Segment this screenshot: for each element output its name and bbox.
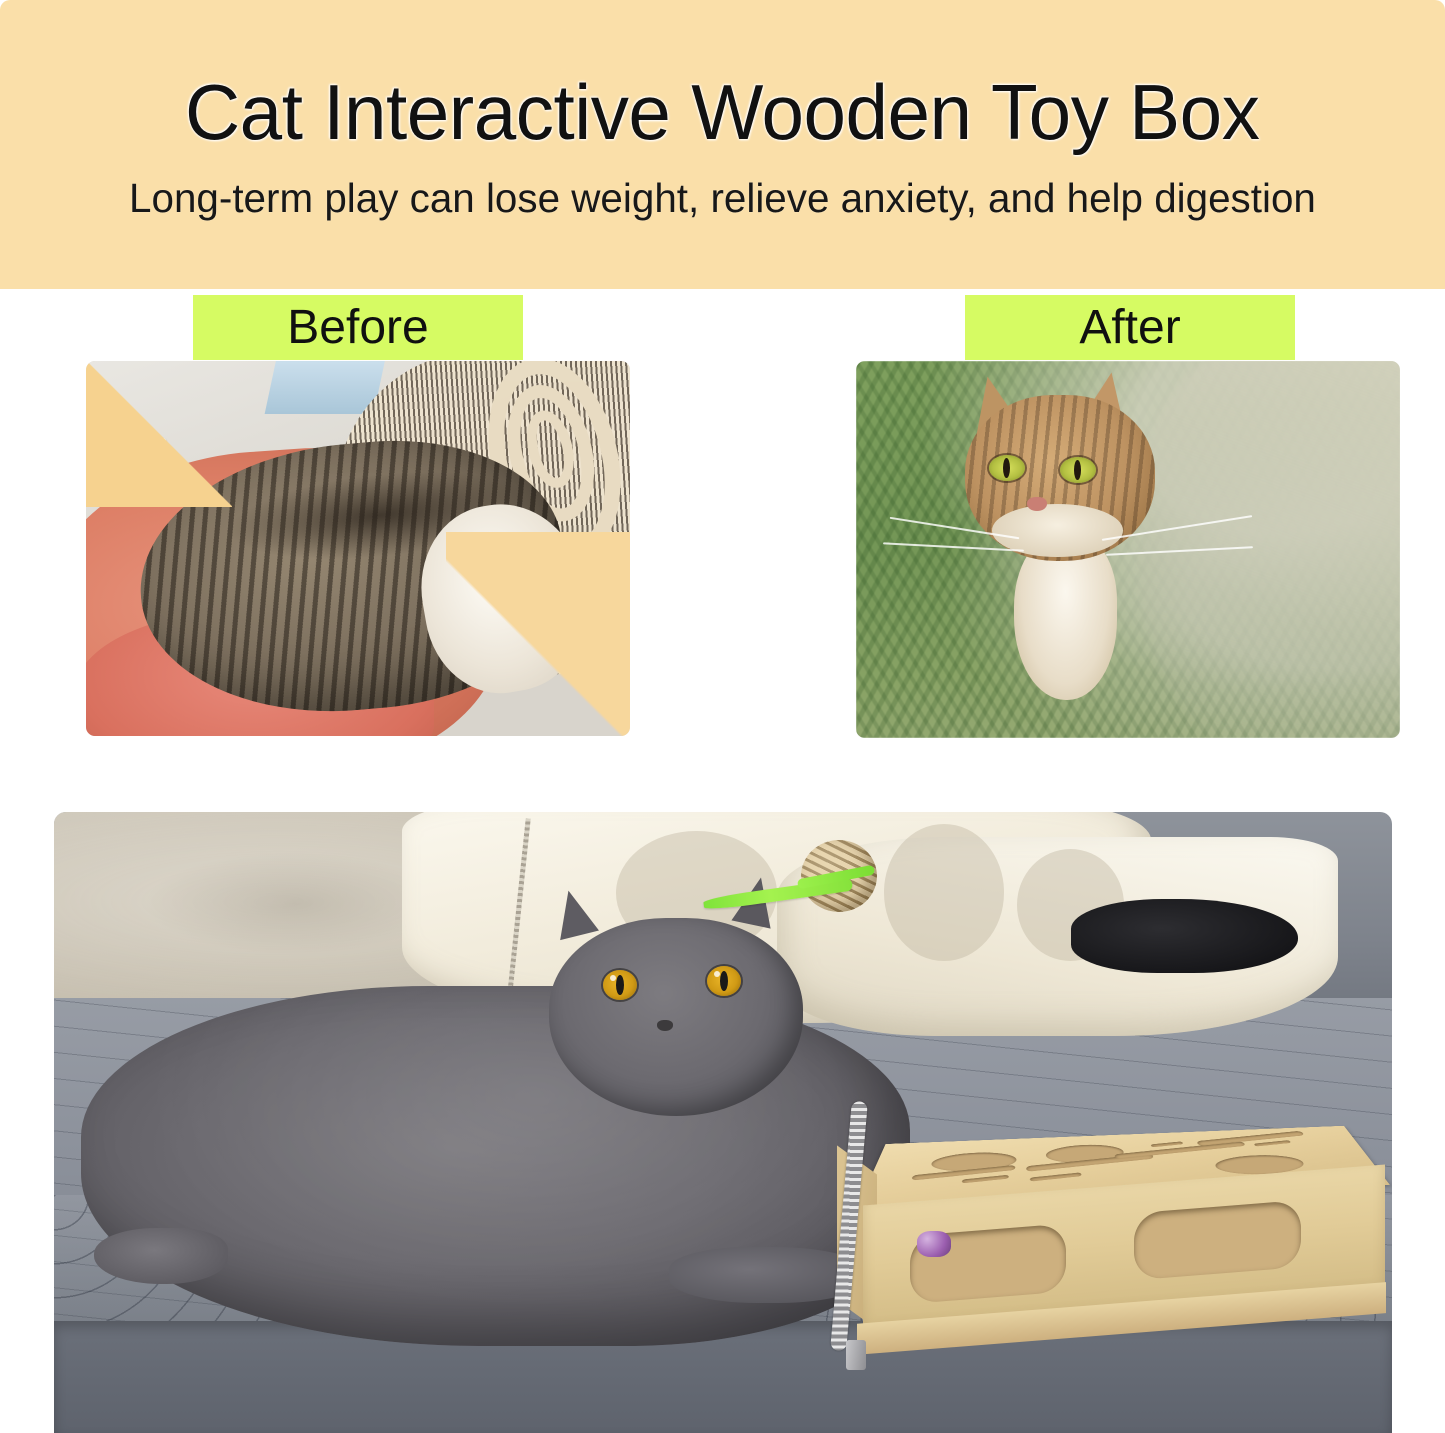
header-banner: Cat Interactive Wooden Toy Box Long-term… xyxy=(0,0,1445,289)
after-label-chip: After xyxy=(965,295,1295,360)
toy-box-slot xyxy=(1030,1173,1082,1182)
photo-corner-tint-top-left xyxy=(86,361,232,507)
cat-front-paw xyxy=(94,1228,228,1284)
spring-base-mount xyxy=(846,1340,866,1370)
toy-box-slot xyxy=(1151,1142,1184,1148)
cat-eye-right xyxy=(707,966,741,996)
cat-nose xyxy=(1027,497,1047,511)
blanket-fold xyxy=(884,824,1004,961)
cat-head xyxy=(549,918,803,1117)
dark-cloth xyxy=(1071,899,1298,974)
toy-box-slot xyxy=(1254,1140,1292,1146)
photo-corner-tint-bottom-right xyxy=(446,532,630,736)
patterned-ball xyxy=(917,1231,951,1257)
main-product-photo xyxy=(54,812,1392,1433)
page-title: Cat Interactive Wooden Toy Box xyxy=(185,73,1259,151)
after-photo xyxy=(856,361,1400,738)
cat-eye-left xyxy=(603,970,637,1000)
cat-eye-right xyxy=(1060,457,1096,483)
toy-box-slot xyxy=(1114,1142,1246,1160)
before-photo xyxy=(86,361,630,736)
page-subtitle: Long-term play can lose weight, relieve … xyxy=(129,175,1316,222)
wall-texture-spot xyxy=(144,852,444,955)
toy-box-side-opening xyxy=(1135,1199,1302,1280)
before-label-chip: Before xyxy=(193,295,523,360)
toy-box-slot xyxy=(1197,1131,1306,1146)
toy-box-slot xyxy=(963,1175,1010,1184)
